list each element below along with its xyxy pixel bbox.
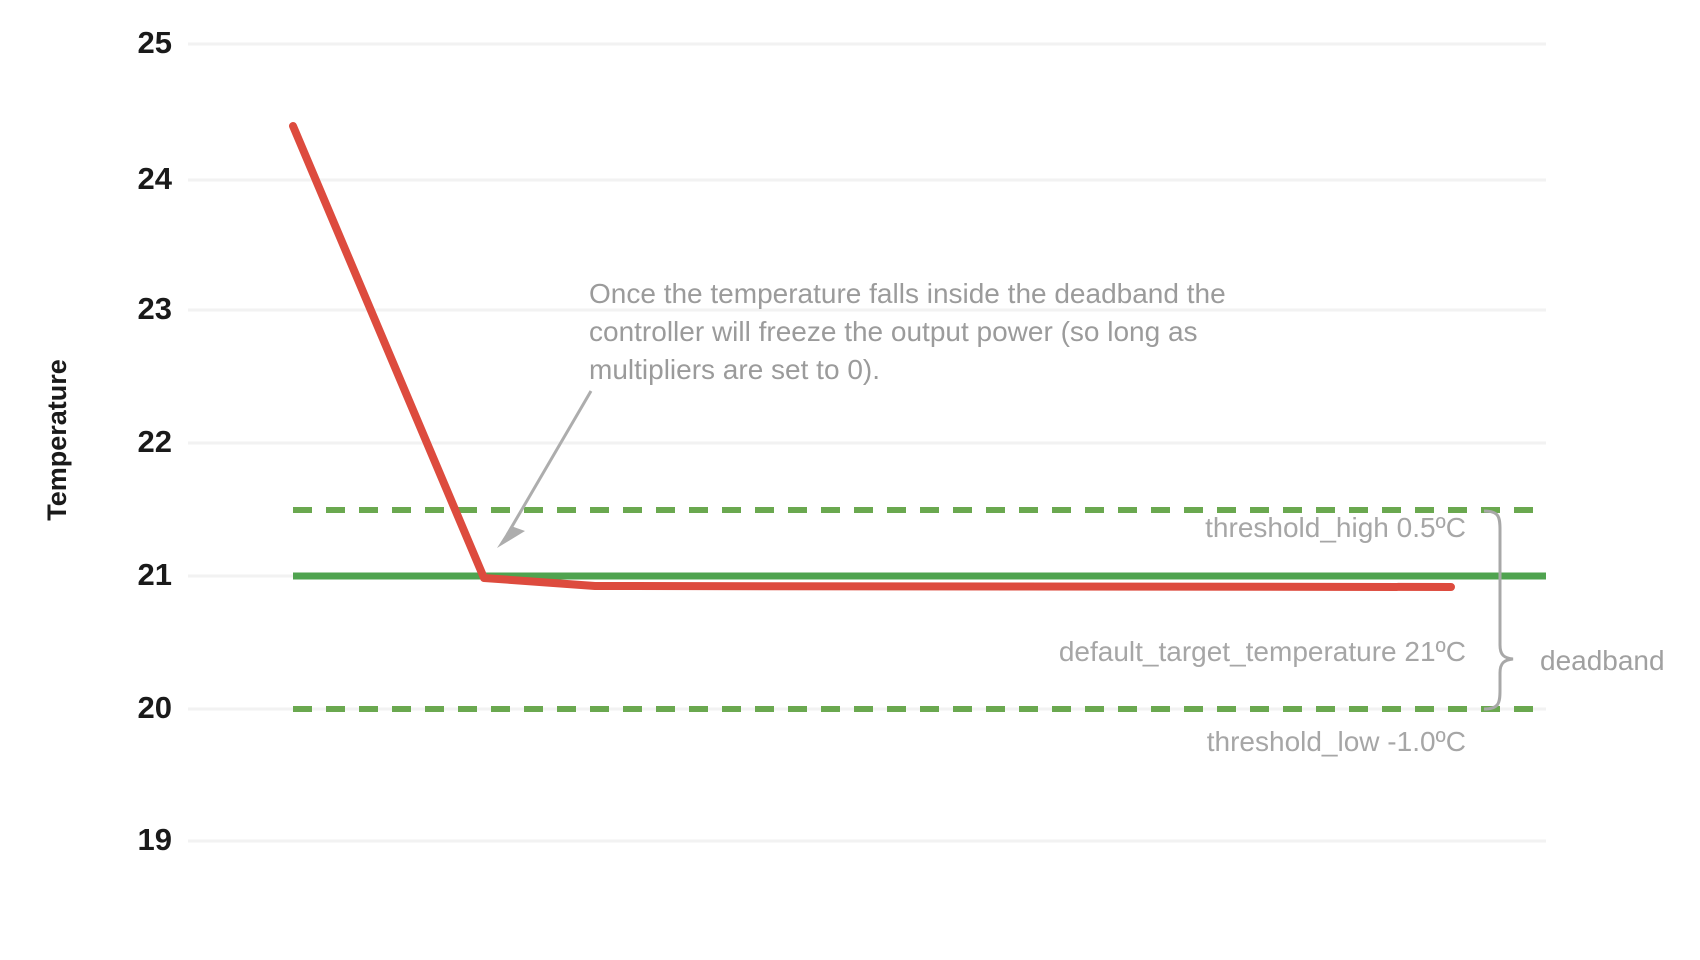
deadband-brace-label: deadband — [1540, 645, 1665, 676]
y-axis-title: Temperature — [42, 359, 72, 521]
threshold-low-label: threshold_low -1.0ºC — [1207, 726, 1466, 757]
y-tick-24: 24 — [138, 161, 173, 196]
default-target-temperature-label: default_target_temperature 21ºC — [1059, 636, 1466, 667]
y-tick-25: 25 — [138, 25, 172, 60]
y-tick-23: 23 — [138, 291, 172, 326]
deadband-brace — [1484, 511, 1513, 709]
y-tick-19: 19 — [138, 822, 172, 857]
annotation-arrow — [497, 391, 591, 548]
deadband-note-line-2: controller will freeze the output power … — [589, 316, 1198, 347]
threshold-high-label: threshold_high 0.5ºC — [1205, 512, 1466, 543]
y-tick-20: 20 — [138, 690, 172, 725]
y-tick-21: 21 — [138, 557, 172, 592]
y-axis-ticks: 25 24 23 22 21 20 19 — [138, 25, 173, 857]
deadband-note-line-3: multipliers are set to 0). — [589, 354, 880, 385]
y-tick-22: 22 — [138, 424, 172, 459]
deadband-note-line-1: Once the temperature falls inside the de… — [589, 278, 1226, 309]
deadband-note-annotation: Once the temperature falls inside the de… — [589, 278, 1226, 385]
gridlines — [188, 44, 1546, 841]
temperature-deadband-chart: 25 24 23 22 21 20 19 Temperature Once th… — [0, 0, 1700, 960]
chart-canvas: 25 24 23 22 21 20 19 Temperature Once th… — [0, 0, 1700, 960]
